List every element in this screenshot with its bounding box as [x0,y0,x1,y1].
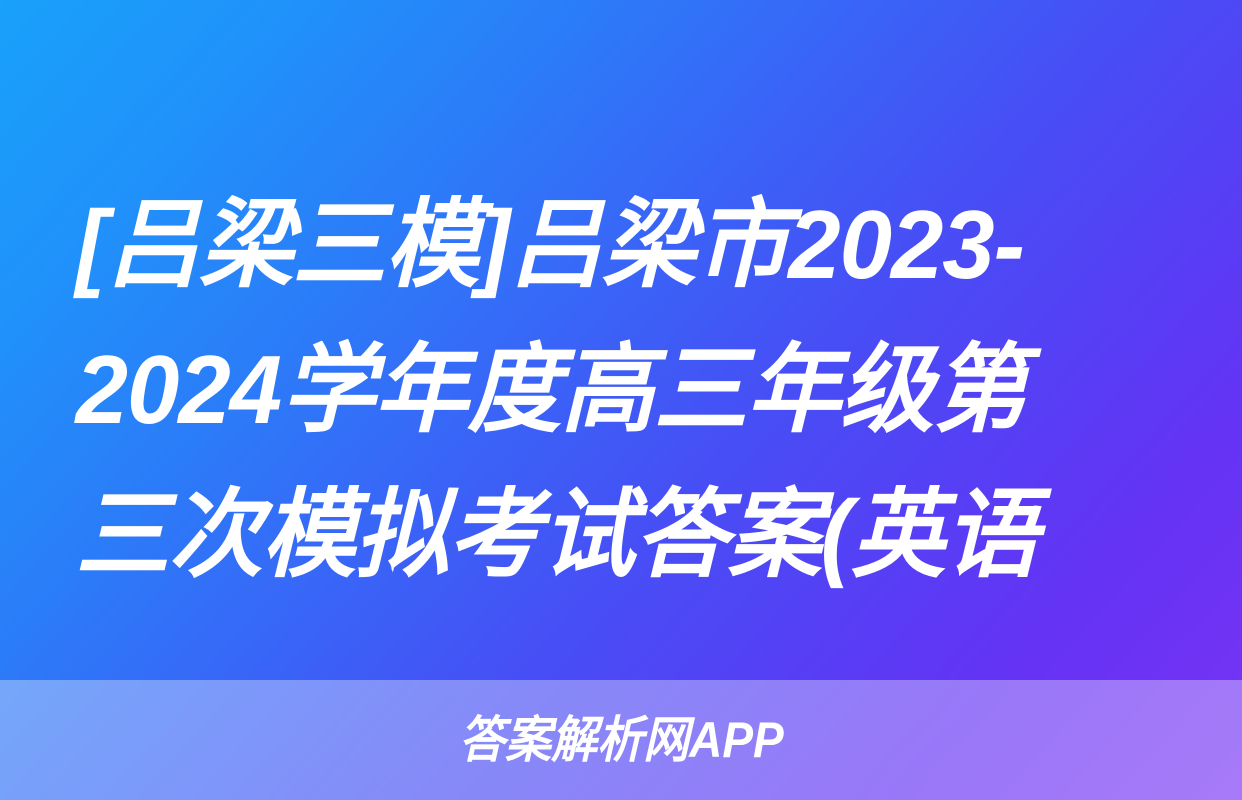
page-title-line-3: 三次模拟考试答案(英语 [76,462,1129,607]
watermark-bar: 答案解析网APP [0,680,1242,800]
poster-card: [吕梁三模]吕梁市2023- 2024学年度高三年级第 三次模拟考试答案(英语 … [0,0,1242,800]
page-title-line-1: [吕梁三模]吕梁市2023- [76,172,1129,317]
watermark-label: 答案解析网APP [459,715,784,765]
page-title-line-2: 2024学年度高三年级第 [76,317,1129,462]
page-title: [吕梁三模]吕梁市2023- 2024学年度高三年级第 三次模拟考试答案(英语 [0,172,1205,607]
